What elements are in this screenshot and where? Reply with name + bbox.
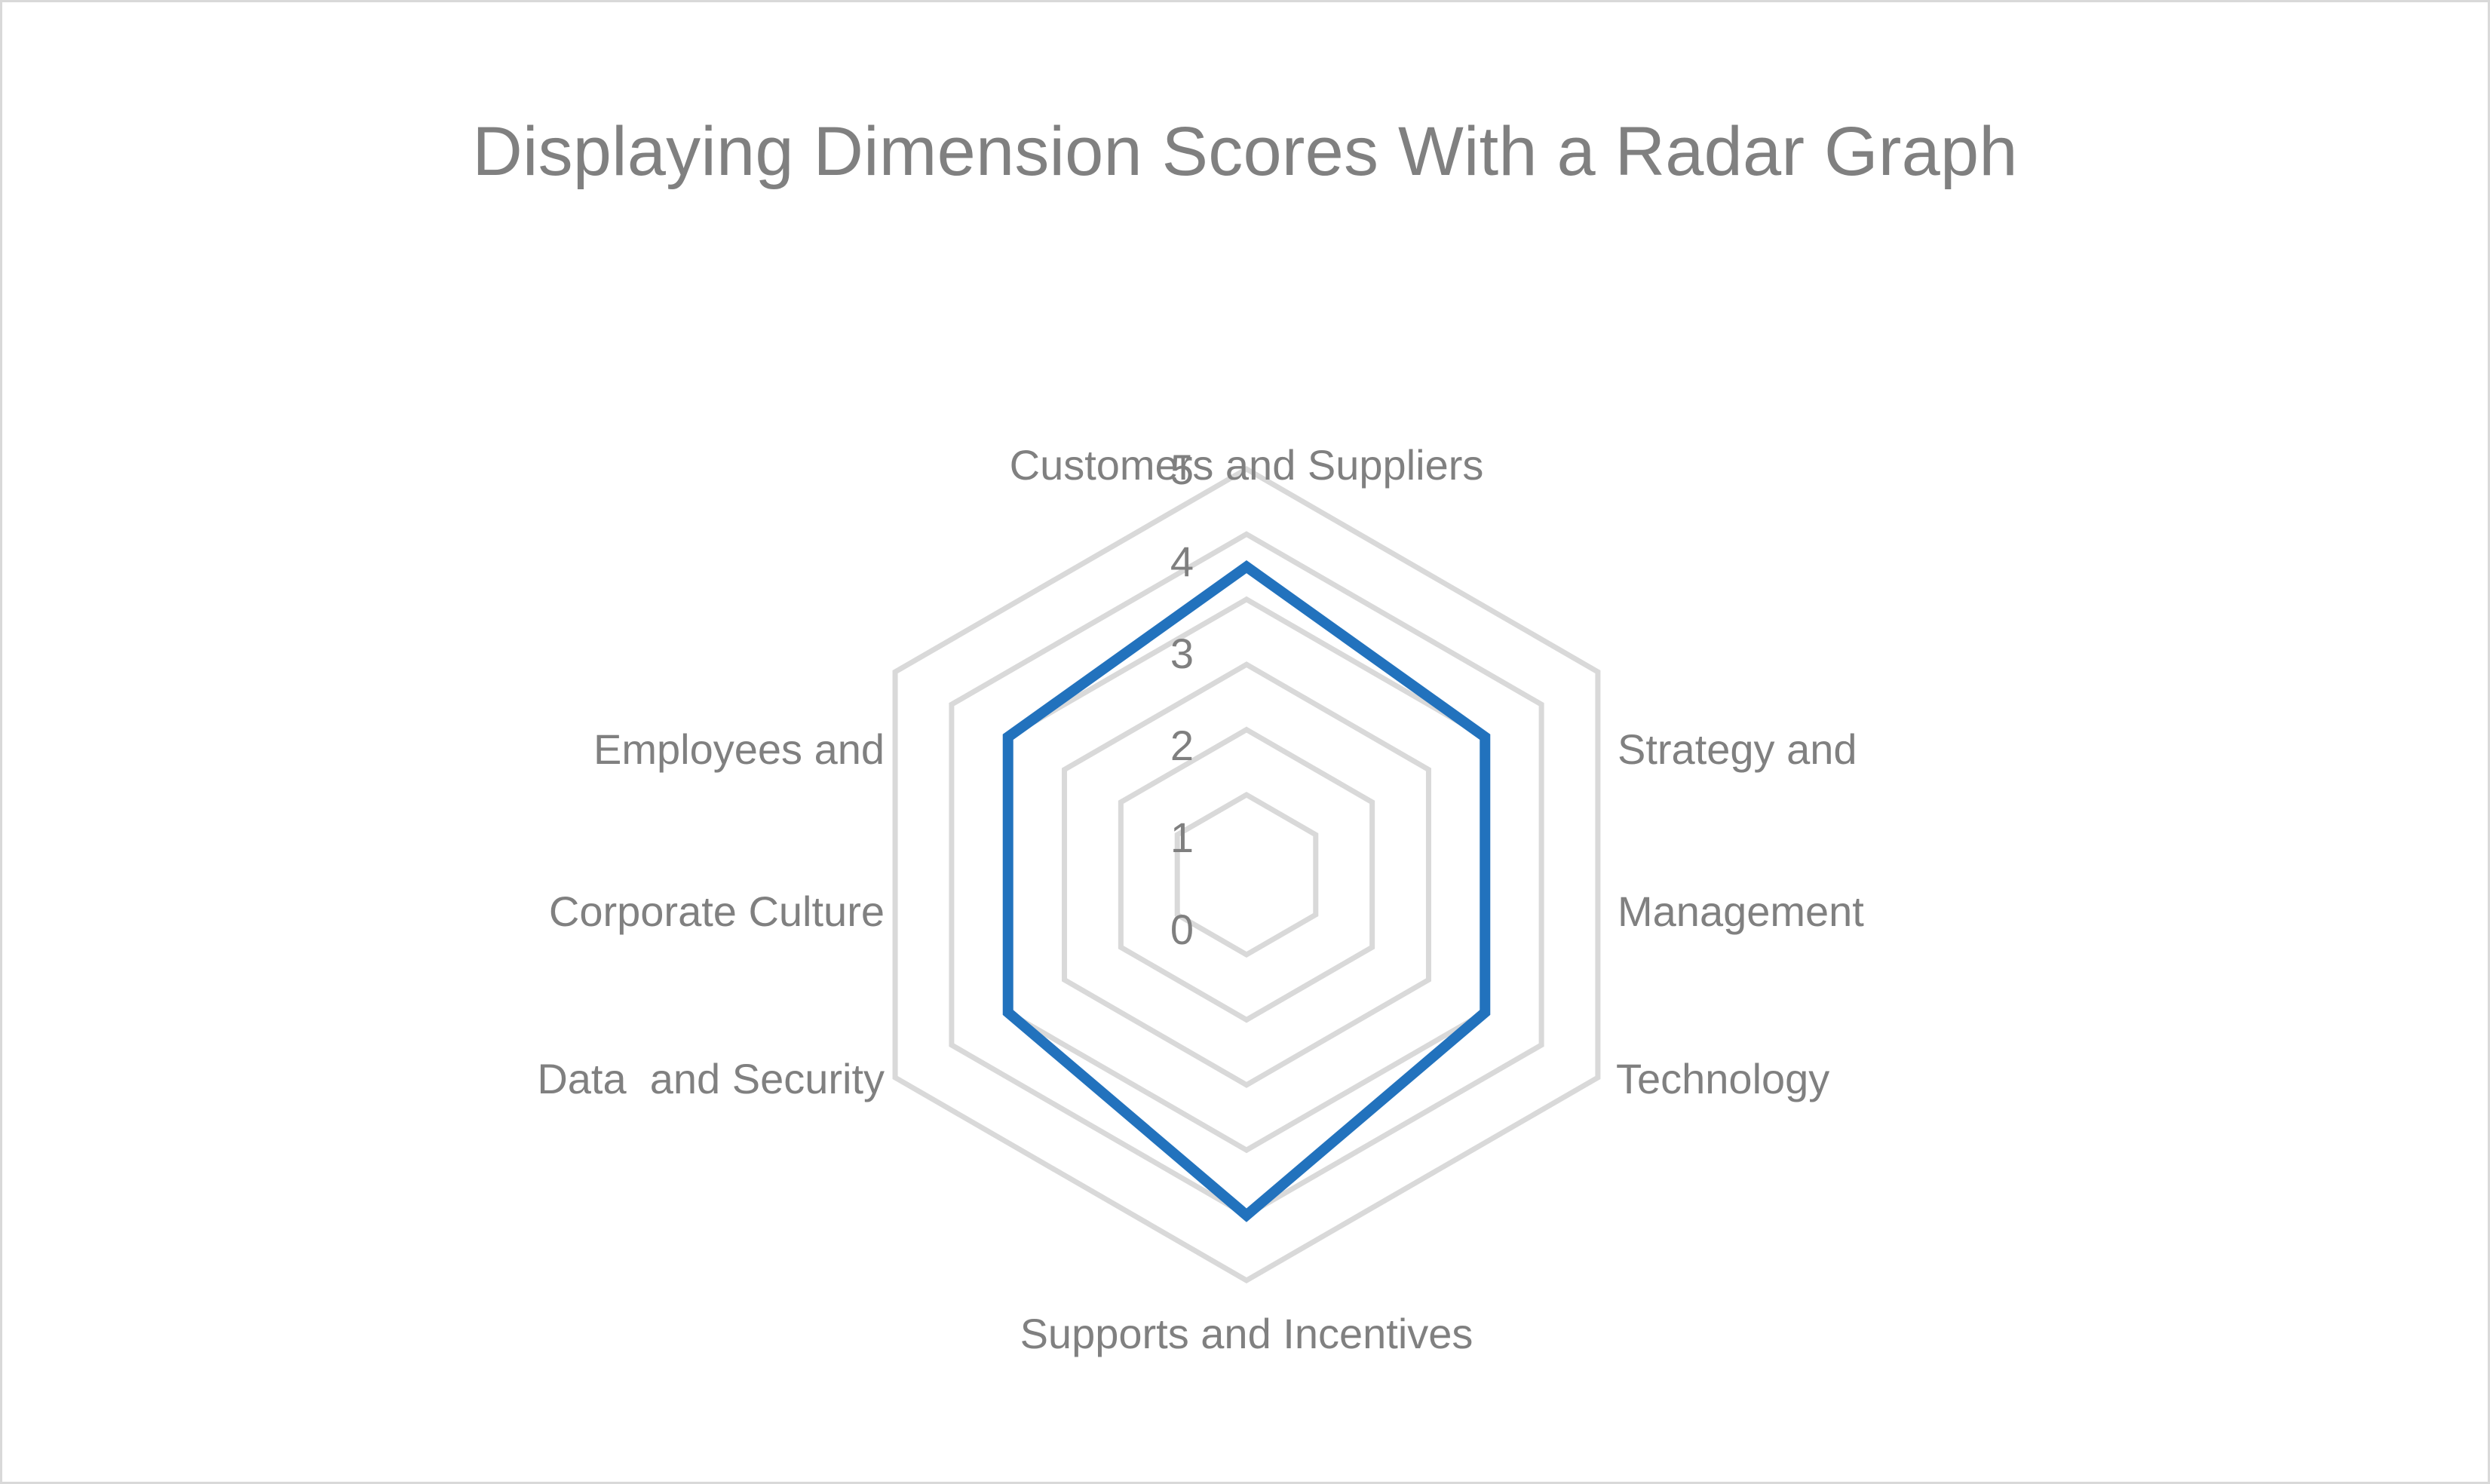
axis-label-employees-and-corporate-culture: Employees and Corporate Culture <box>409 615 885 1047</box>
grid-ring-5 <box>895 469 1598 1280</box>
tick-label-4: 4 <box>1103 541 1194 583</box>
chart-card: Displaying Dimension Scores With a Radar… <box>0 0 2490 1484</box>
tick-label-1: 1 <box>1103 817 1194 859</box>
radar-plot-area <box>2 2 2490 1484</box>
grid-ring-1 <box>1121 730 1372 1020</box>
axis-label-employees-line2: Corporate Culture <box>409 885 885 939</box>
tick-label-0: 0 <box>1103 909 1194 951</box>
axis-label-strategy-and-management: Strategy and Management <box>1618 615 2010 1047</box>
radar-svg <box>2 2 2490 1484</box>
tick-label-5: 5 <box>1103 449 1194 491</box>
tick-label-3: 3 <box>1103 633 1194 675</box>
grid-ring-4 <box>952 534 1541 1215</box>
grid-ring-0 <box>1177 795 1316 955</box>
axis-label-supports-and-incentives: Supports and Incentives <box>960 1307 1533 1361</box>
axis-label-data-and-security: Data and Security <box>409 1052 885 1106</box>
axis-label-technology: Technology <box>1616 1052 1963 1106</box>
tick-label-2: 2 <box>1103 725 1194 767</box>
axis-label-employees-line1: Employees and <box>409 722 885 777</box>
axis-label-customers-and-suppliers: Customers and Suppliers <box>960 438 1533 492</box>
axis-label-strategy-line2: Management <box>1618 885 2010 939</box>
radar-grid <box>895 469 1598 1280</box>
axis-label-strategy-line1: Strategy and <box>1618 722 2010 777</box>
